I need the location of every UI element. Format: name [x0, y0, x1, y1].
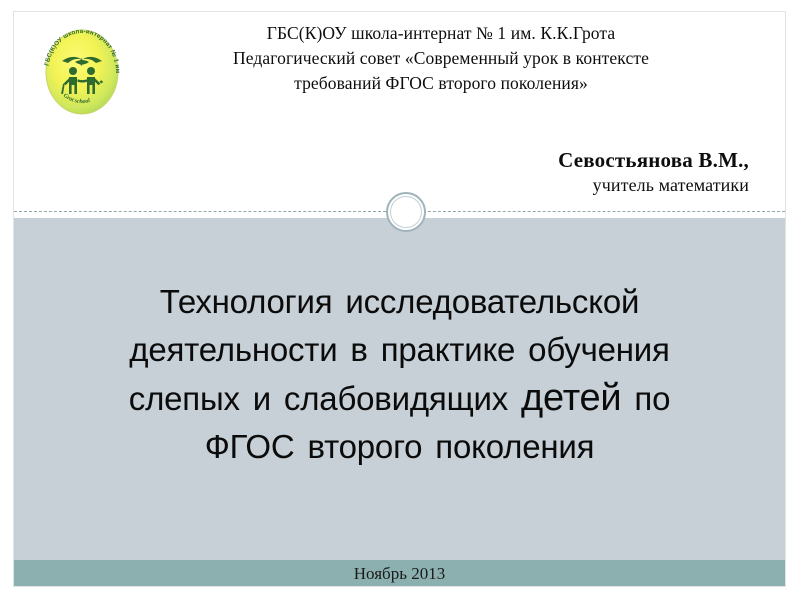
school-heading: ГБС(К)ОУ школа-интернат № 1 им. К.К.Грот…: [162, 21, 720, 96]
slide-title-line-2: деятельности в практике обучения: [40, 326, 759, 374]
slide-title-line-1: Технология исследовательской: [40, 278, 759, 326]
slide-title-line-3: слепых и слабовидящих детей по: [40, 374, 759, 423]
school-heading-line-3: требований ФГОС второго поколения»: [162, 71, 720, 96]
school-emblem-icon: ГБС(К)ОУ школа-интернат № 1 им. К.К.Грот…: [35, 21, 130, 123]
presentation-slide: ГБС(К)ОУ школа-интернат № 1 им. К.К.Грот…: [13, 11, 786, 587]
ring-decoration-icon: [386, 192, 426, 232]
presenter-role: учитель математики: [558, 173, 749, 197]
footer-date: Ноябрь 2013: [14, 561, 785, 586]
slide-title: Технология исследовательской деятельност…: [40, 278, 759, 471]
slide-title-line-4: ФГОС второго поколения: [40, 423, 759, 471]
slide-header: ГБС(К)ОУ школа-интернат № 1 им. К.К.Грот…: [14, 12, 785, 212]
presenter-block: Севостьянова В.М., учитель математики: [558, 147, 749, 197]
slide-title-line-3-a: слепых и слабовидящих: [129, 380, 521, 417]
slide-title-emphasis: детей: [521, 377, 621, 419]
slide-body-panel: Технология исследовательской деятельност…: [14, 218, 785, 560]
school-heading-line-1: ГБС(К)ОУ школа-интернат № 1 им. К.К.Грот…: [162, 21, 720, 46]
slide-title-line-3-c: по: [621, 380, 670, 417]
presenter-name: Севостьянова В.М.,: [558, 147, 749, 173]
school-heading-line-2: Педагогический совет «Современный урок в…: [162, 46, 720, 71]
